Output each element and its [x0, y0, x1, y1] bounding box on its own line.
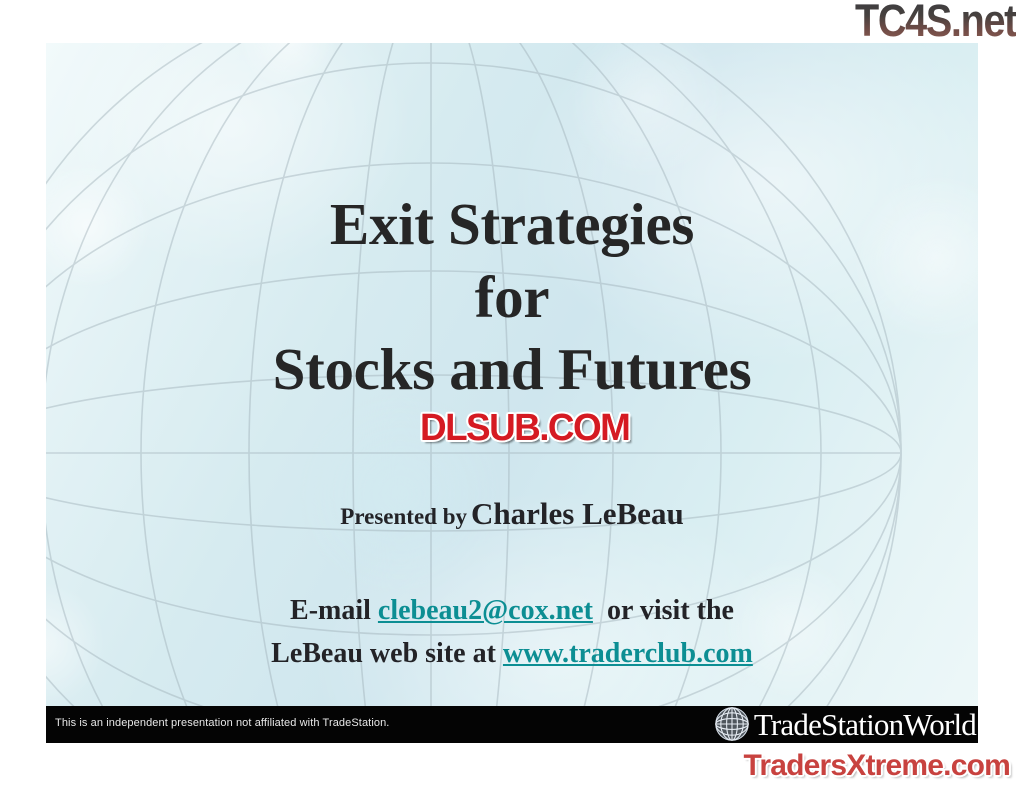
tradestationworld-wordmark: TradeStationWorld: [754, 709, 976, 740]
title-line-2: for: [46, 261, 978, 334]
contact-info: E-mail clebeau2@cox.net or visit the LeB…: [46, 589, 978, 676]
page-title: Exit Strategies for Stocks and Futures: [46, 188, 978, 406]
tradestationworld-globe-icon: [712, 706, 752, 742]
tradersxtreme-watermark: TradersXtreme.com: [743, 751, 1010, 781]
presenter-credit: Presented by Charles LeBeau: [46, 496, 978, 532]
website-prefix-label: LeBeau web site at: [271, 638, 496, 669]
disclaimer-text: This is an independent presentation not …: [55, 717, 389, 729]
email-prefix-label: E-mail: [290, 595, 371, 626]
website-link[interactable]: www.traderclub.com: [503, 638, 753, 669]
title-line-1: Exit Strategies: [46, 188, 978, 261]
contact-line-website: LeBeau web site at www.traderclub.com: [46, 632, 978, 675]
slide-footer-bar: This is an independent presentation not …: [46, 706, 978, 743]
tc4s-site-logo: TC4S.net: [855, 0, 1016, 43]
email-link[interactable]: clebeau2@cox.net: [378, 595, 593, 626]
tradestationworld-logo: TradeStationWorld: [712, 705, 976, 743]
title-line-3: Stocks and Futures: [46, 333, 978, 406]
email-suffix-label: or visit the: [607, 595, 734, 626]
dlsub-watermark: DLSUB.COM: [420, 409, 629, 447]
presenter-prefix: Presented by: [340, 504, 467, 529]
presentation-slide: Exit Strategies for Stocks and Futures P…: [46, 43, 978, 743]
page-canvas: Exit Strategies for Stocks and Futures P…: [0, 0, 1024, 791]
contact-line-email: E-mail clebeau2@cox.net or visit the: [46, 589, 978, 632]
presenter-name: Charles LeBeau: [471, 496, 684, 531]
